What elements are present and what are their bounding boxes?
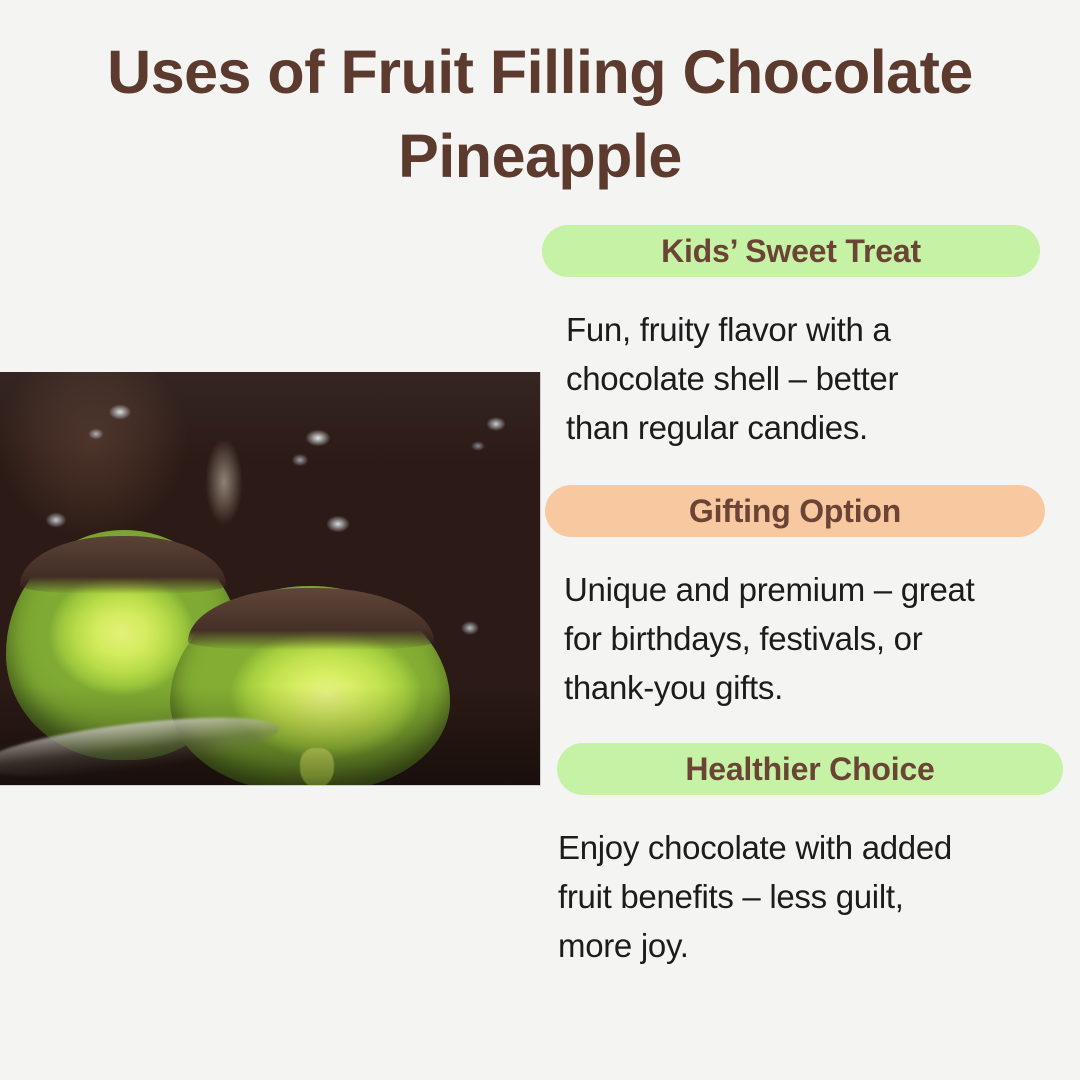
product-photo [0, 372, 541, 786]
benefit-item-3: Healthier Choice Enjoy chocolate with ad… [540, 743, 1080, 970]
benefit-item-2: Gifting Option Unique and premium – grea… [540, 485, 1080, 712]
badge-gifting-option[interactable]: Gifting Option [545, 485, 1045, 537]
spacer-2 [540, 712, 1080, 743]
benefit-description-3: Enjoy chocolate with added fruit benefit… [558, 823, 1080, 970]
badge-healthier-choice[interactable]: Healthier Choice [557, 743, 1063, 795]
badge-kids-sweet-treat[interactable]: Kids’ Sweet Treat [542, 225, 1040, 277]
spacer-1 [540, 452, 1080, 485]
benefit-description-2: Unique and premium – great for birthdays… [564, 565, 1080, 712]
benefit-item-1: Kids’ Sweet Treat Fun, fruity flavor wit… [540, 225, 1080, 452]
pineapple-filling-drip [300, 748, 334, 786]
page-title: Uses of Fruit Filling Chocolate Pineappl… [60, 30, 1020, 198]
benefits-list: Kids’ Sweet Treat Fun, fruity flavor wit… [540, 225, 1080, 970]
benefit-description-1: Fun, fruity flavor with a chocolate shel… [566, 305, 1080, 452]
